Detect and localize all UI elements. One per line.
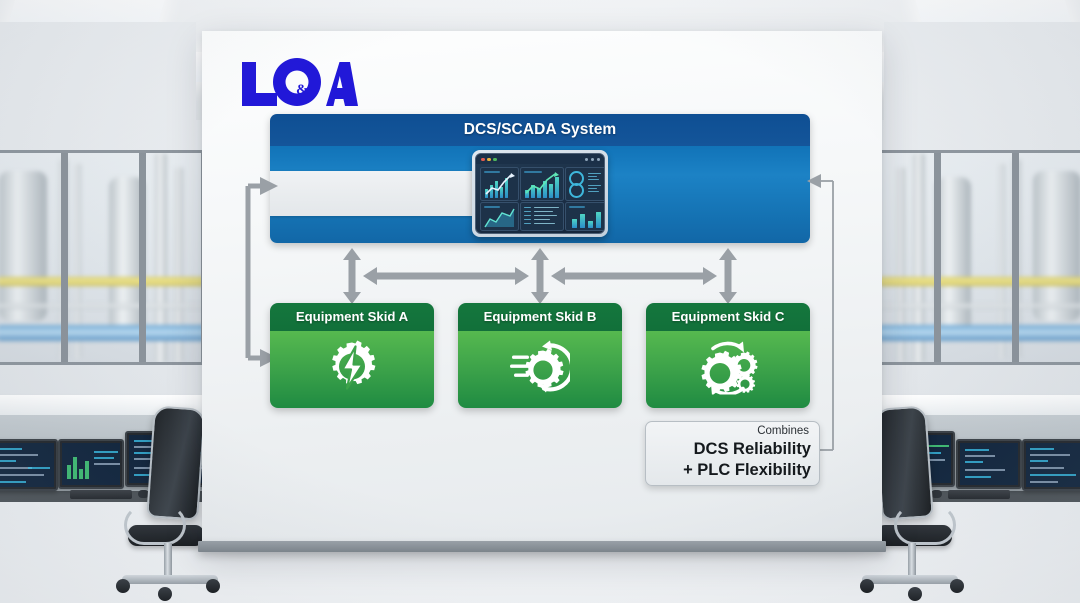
skid-c-header: Equipment Skid C xyxy=(646,303,810,331)
skid-c-title: Equipment Skid C xyxy=(646,303,810,331)
skid-b-title: Equipment Skid B xyxy=(458,303,622,331)
dashboard-line-chart xyxy=(480,167,519,201)
console-monitor xyxy=(0,439,58,491)
dashboard-kpi-bars xyxy=(565,202,605,231)
skid-a-header: Equipment Skid A xyxy=(270,303,434,331)
skid-a-title: Equipment Skid A xyxy=(270,303,434,331)
callout-line2: + PLC Flexibility xyxy=(683,461,811,479)
console-monitor xyxy=(956,439,1022,489)
dashboard-bar-chart xyxy=(520,167,564,201)
gear-speed-arc-icon xyxy=(510,339,570,400)
equipment-skid-c[interactable]: Equipment Skid C xyxy=(646,303,810,408)
equipment-skid-b[interactable]: Equipment Skid B xyxy=(458,303,622,408)
equipment-skid-a[interactable]: Equipment Skid A xyxy=(270,303,434,408)
window-left xyxy=(0,150,204,365)
lca-logo-mark: & xyxy=(240,58,360,110)
callout-line1: DCS Reliability xyxy=(694,440,811,458)
industrial-plant-view xyxy=(0,153,201,362)
horizontal-double-arrow xyxy=(363,267,529,285)
scada-dashboard-icon xyxy=(472,150,608,237)
horizontal-double-arrow xyxy=(551,267,717,285)
vertical-double-arrow xyxy=(343,248,361,304)
vertical-double-arrow xyxy=(719,248,737,304)
callout-text: DCS Reliability + PLC Flexibility xyxy=(683,439,811,481)
industrial-plant-view xyxy=(879,153,1080,362)
skid-b-header: Equipment Skid B xyxy=(458,303,622,331)
dashboard-gauges xyxy=(565,167,605,201)
dcs-panel-title: DCS/SCADA System xyxy=(270,114,810,146)
lca-logo: & xyxy=(240,58,360,110)
window-right xyxy=(876,150,1080,365)
dashboard-table xyxy=(520,202,564,231)
logo-ampersand: & xyxy=(296,82,309,98)
console-monitor xyxy=(1022,439,1080,491)
callout-box: Combines DCS Reliability + PLC Flexibili… xyxy=(645,421,820,486)
screenshot-stage: & DCS/SCADA System Overall Process Contr… xyxy=(0,0,1080,603)
vertical-double-arrow xyxy=(531,248,549,304)
board-tray xyxy=(198,541,886,552)
console-monitor xyxy=(58,439,124,489)
feedback-loop-right xyxy=(805,172,895,462)
multi-gear-cycle-icon xyxy=(697,339,759,400)
callout-eyebrow: Combines xyxy=(757,425,809,437)
gear-lightning-icon xyxy=(324,339,380,400)
dashboard-area-chart xyxy=(480,202,519,231)
